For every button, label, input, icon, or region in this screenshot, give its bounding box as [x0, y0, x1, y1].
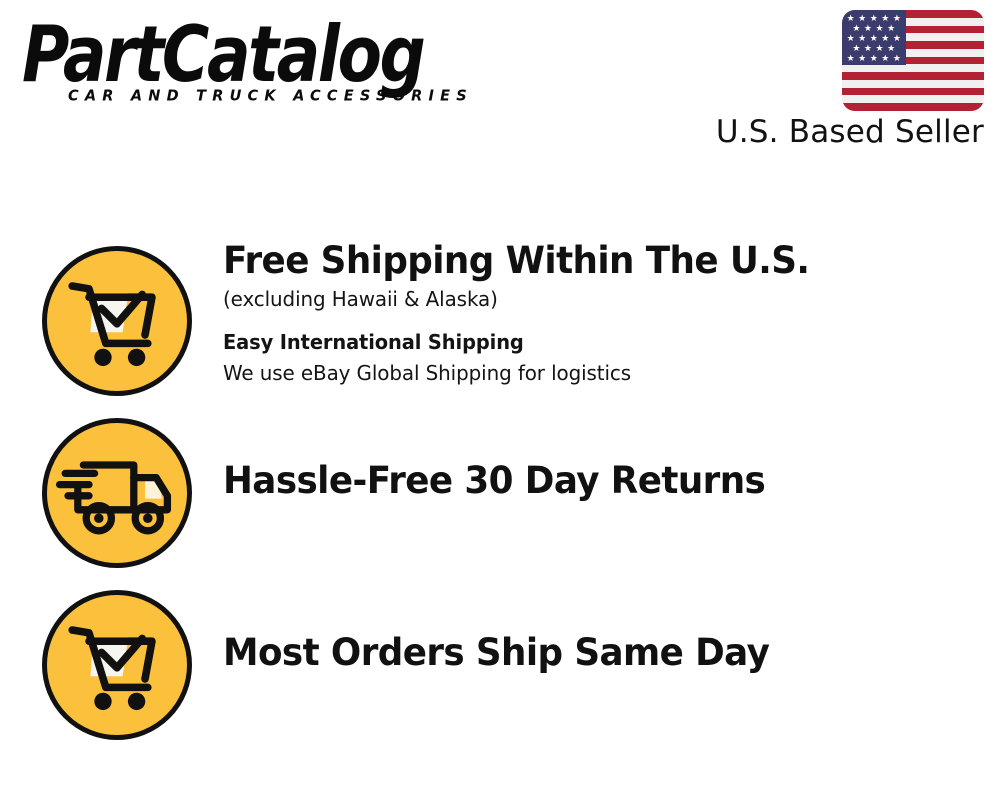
feature-row: Most Orders Ship Same Day: [0, 582, 1000, 754]
flag-star-row: ★ ★ ★ ★ ★: [842, 13, 906, 23]
feature-title: Most Orders Ship Same Day: [223, 630, 963, 675]
feature-title: Free Shipping Within The U.S.: [223, 238, 963, 283]
feature-text-block: Free Shipping Within The U.S. (excluding…: [223, 238, 990, 388]
feature-subtitle: Easy International Shipping: [223, 327, 967, 357]
feature-text-block: Hassle-Free 30 Day Returns: [223, 458, 990, 503]
shopping-cart-check-icon: [42, 590, 192, 740]
flag-star-row: ★ ★ ★ ★ ★: [842, 53, 906, 63]
page-header: PartCatalog CAR AND TRUCK ACCESSORIES ★ …: [0, 0, 1000, 175]
feature-title: Hassle-Free 30 Day Returns: [223, 458, 963, 503]
flag-star-row: ★ ★ ★ ★: [842, 23, 906, 33]
brand-wordmark: PartCatalog: [22, 16, 423, 94]
flag-star-row: ★ ★ ★ ★ ★: [842, 33, 906, 43]
feature-row: Hassle-Free 30 Day Returns: [0, 410, 1000, 582]
flag-canton: ★ ★ ★ ★ ★ ★ ★ ★ ★ ★ ★ ★ ★ ★ ★ ★ ★ ★ ★ ★ …: [842, 10, 906, 65]
feature-note: (excluding Hawaii & Alaska): [223, 284, 967, 314]
brand-logo[interactable]: PartCatalog CAR AND TRUCK ACCESSORIES: [22, 22, 492, 117]
feature-subtext: We use eBay Global Shipping for logistic…: [223, 358, 967, 388]
brand-tagline: CAR AND TRUCK ACCESSORIES: [68, 88, 473, 105]
us-flag-icon: ★ ★ ★ ★ ★ ★ ★ ★ ★ ★ ★ ★ ★ ★ ★ ★ ★ ★ ★ ★ …: [842, 10, 984, 111]
feature-text-block: Most Orders Ship Same Day: [223, 630, 990, 675]
us-based-seller-label: U.S. Based Seller: [704, 115, 984, 149]
flag-star-row: ★ ★ ★ ★: [842, 43, 906, 53]
delivery-truck-icon: [42, 418, 192, 568]
us-based-seller-badge: ★ ★ ★ ★ ★ ★ ★ ★ ★ ★ ★ ★ ★ ★ ★ ★ ★ ★ ★ ★ …: [704, 10, 984, 149]
shopping-cart-check-icon: [42, 246, 192, 396]
feature-row: Free Shipping Within The U.S. (excluding…: [0, 238, 1000, 410]
